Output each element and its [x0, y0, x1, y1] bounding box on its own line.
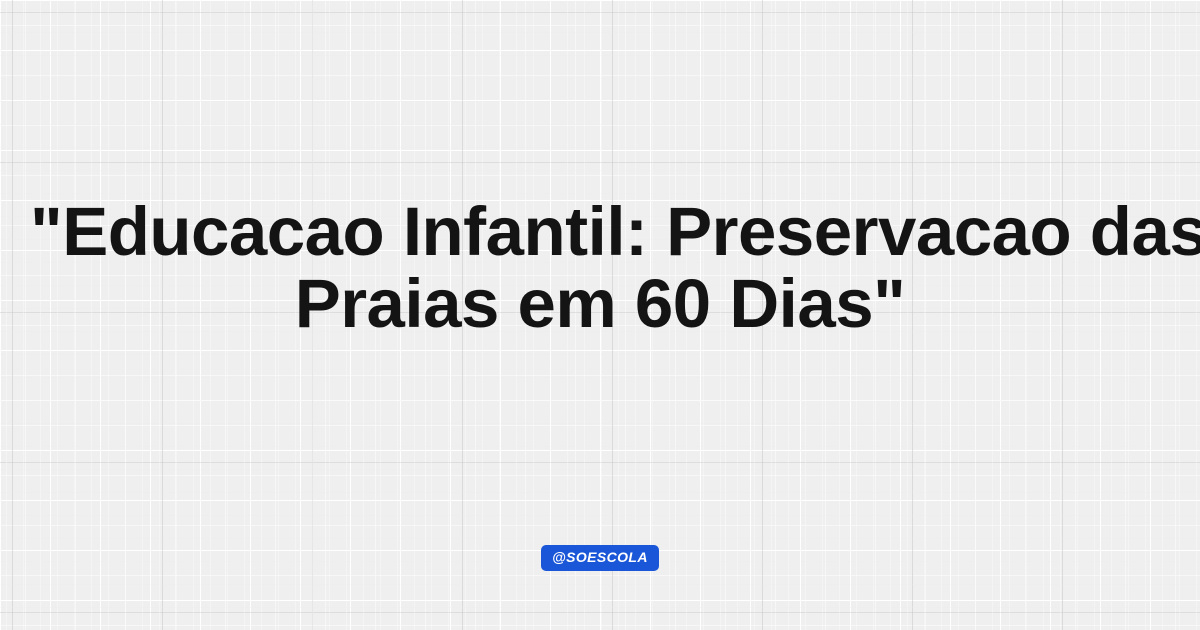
page-title: "Educacao Infantil: Preservacao das Prai… [0, 196, 1200, 340]
watermark-badge: @SOESCOLA [541, 545, 659, 571]
share-card-canvas: "Educacao Infantil: Preservacao das Prai… [0, 0, 1200, 630]
title-line-1: "Educacao Infantil: Preservacao das [30, 196, 1170, 268]
title-line-2: Praias em 60 Dias" [30, 268, 1170, 340]
watermark-container: @SOESCOLA [0, 545, 1200, 571]
